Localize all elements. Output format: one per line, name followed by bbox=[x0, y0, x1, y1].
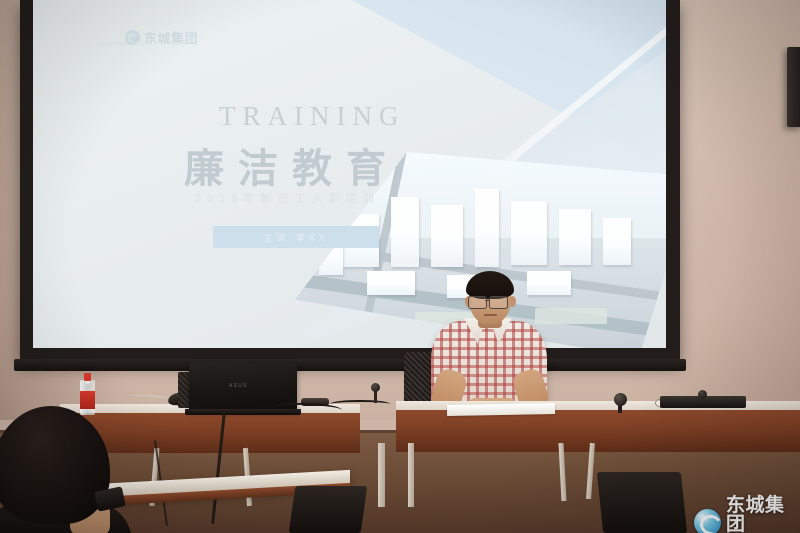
slide-logo-cn: 东城集团 bbox=[144, 28, 198, 47]
city-building bbox=[603, 218, 631, 265]
projector-screen-surface: 东城集团 DONGCHENG GROUP TRAINING 廉洁教育 2019年… bbox=[33, 0, 666, 348]
table-apron bbox=[396, 410, 800, 452]
city-building bbox=[367, 271, 415, 296]
microphone-right bbox=[614, 393, 627, 406]
laptop-brand-label: ASUS bbox=[229, 383, 248, 389]
foreground-attendee bbox=[0, 406, 114, 533]
slide-title-chinese: 廉洁教育 bbox=[184, 136, 400, 194]
city-building bbox=[475, 189, 499, 267]
eyeglasses-icon bbox=[468, 296, 513, 308]
photo-scene: 东城集团 DONGCHENG GROUP TRAINING 廉洁教育 2019年… bbox=[0, 0, 800, 533]
speaker-figure bbox=[424, 274, 554, 412]
table-leg bbox=[378, 443, 385, 507]
speaker-hair bbox=[466, 271, 514, 299]
city-building bbox=[431, 205, 463, 267]
audience-chair bbox=[289, 486, 368, 533]
paper-documents bbox=[447, 403, 555, 416]
table-leg bbox=[408, 443, 414, 507]
audience-chair bbox=[597, 472, 687, 533]
watermark-logo: 东城集团 DONGCHENG GROUP bbox=[694, 496, 800, 533]
pen-tray-knob bbox=[698, 390, 707, 399]
watermark-text: 东城集团 DONGCHENG GROUP bbox=[726, 496, 800, 533]
wall-mounted-device bbox=[787, 47, 800, 127]
slide-subtitle: 2019年新员工入职培训 bbox=[195, 190, 379, 206]
slide-presenter-label: 主讲 李XX bbox=[263, 231, 329, 244]
lens-left bbox=[468, 296, 487, 309]
microphone-left bbox=[371, 383, 380, 392]
dongcheng-watermark-icon bbox=[694, 509, 721, 533]
slide-logo-en: DONGCHENG GROUP bbox=[97, 41, 148, 46]
city-building bbox=[511, 201, 547, 265]
slide-presenter-banner: 主讲 李XX bbox=[213, 226, 379, 248]
lens-right bbox=[489, 296, 508, 309]
bottle-cap bbox=[84, 373, 91, 381]
slide-brand-logo: 东城集团 DONGCHENG GROUP bbox=[125, 28, 198, 47]
attendee-hair bbox=[0, 406, 110, 524]
city-building bbox=[391, 197, 419, 267]
slide-title-english: TRAINING bbox=[219, 101, 405, 132]
watermark-brand-cn: 东城集团 bbox=[726, 496, 800, 533]
city-building bbox=[559, 209, 591, 264]
projector-screen-frame: 东城集团 DONGCHENG GROUP TRAINING 廉洁教育 2019年… bbox=[20, 0, 680, 362]
glasses-bridge bbox=[485, 300, 490, 301]
desk-cable bbox=[330, 400, 390, 408]
